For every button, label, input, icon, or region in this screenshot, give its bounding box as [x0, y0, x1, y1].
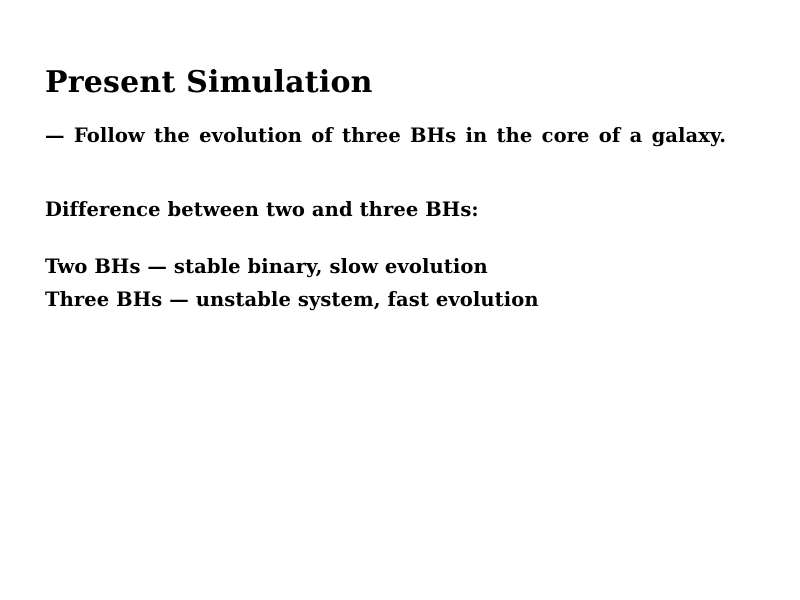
page-title: Present Simulation — [45, 66, 740, 99]
presentation-slide: Present Simulation — Follow the evolutio… — [0, 0, 800, 600]
comparison-list: Two BHs — stable binary, slow evolution … — [45, 251, 740, 317]
paragraph-spacer-1 — [45, 151, 740, 195]
comparison-line-two-bhs: Two BHs — stable binary, slow evolution — [45, 251, 740, 284]
slide-content-area: Present Simulation — Follow the evolutio… — [45, 66, 740, 317]
intro-paragraph: — Follow the evolution of three BHs in t… — [45, 121, 739, 151]
section-heading: Difference between two and three BHs: — [45, 195, 740, 225]
comparison-line-three-bhs: Three BHs — unstable system, fast evolut… — [45, 284, 740, 317]
paragraph-spacer-2 — [45, 224, 740, 251]
